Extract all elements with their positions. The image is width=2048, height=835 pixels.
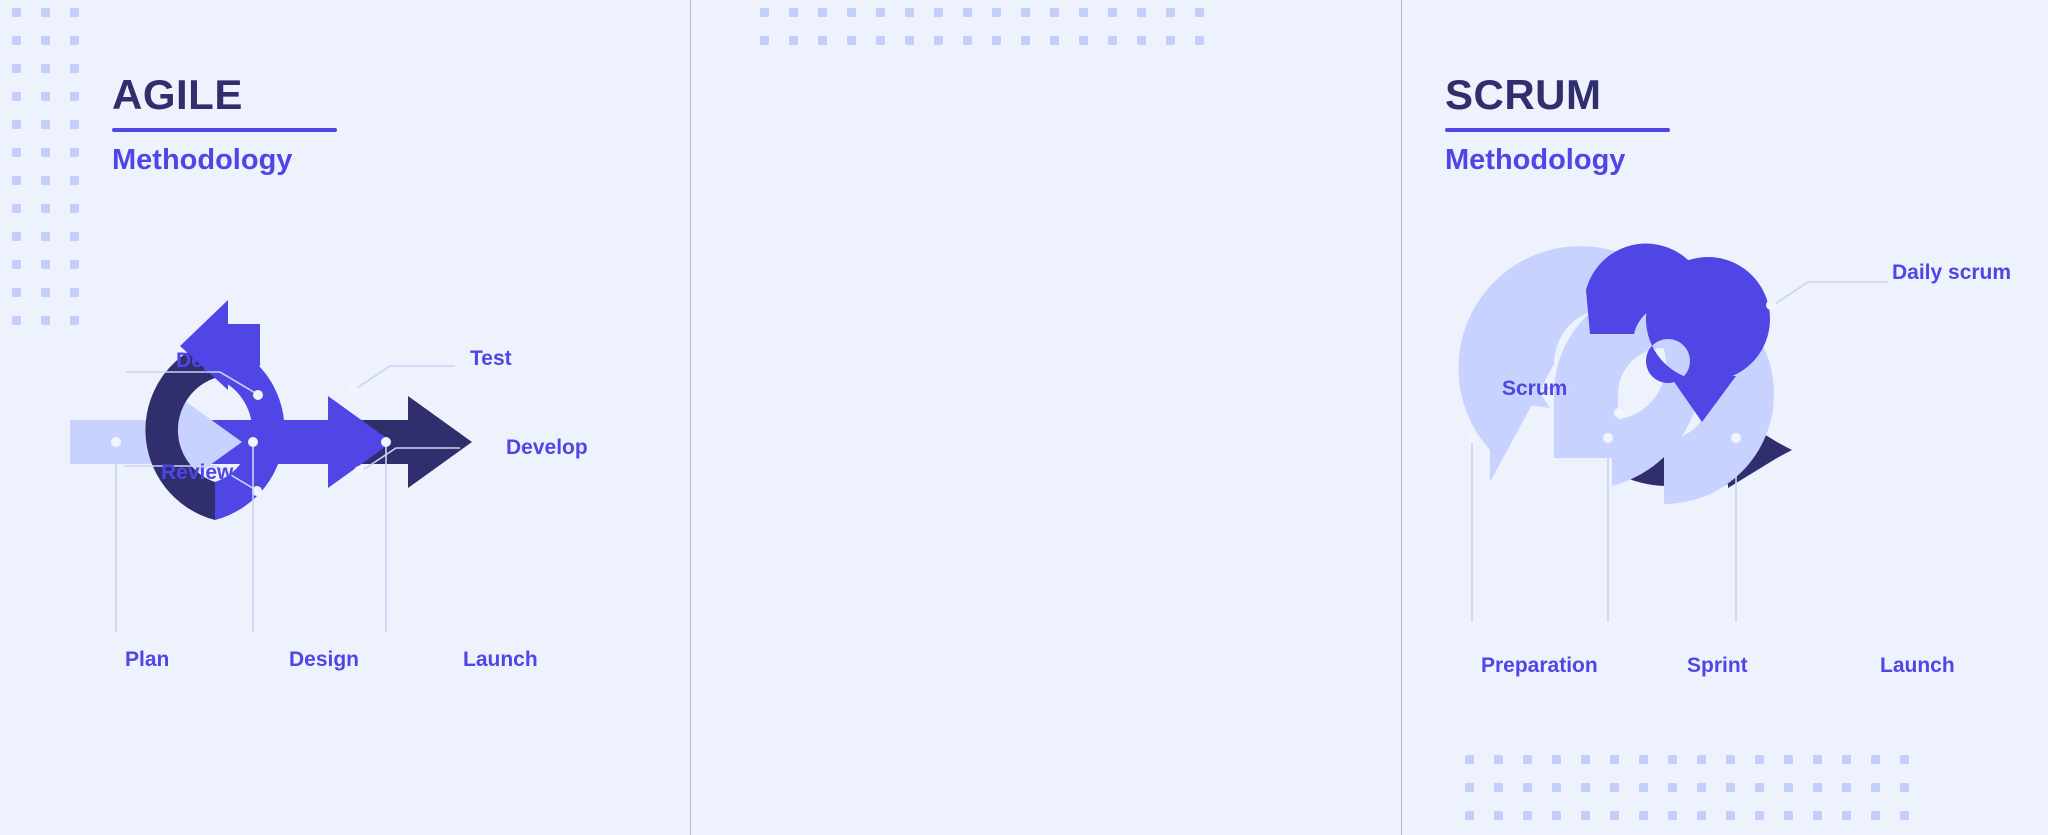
agile-caption-launch: Launch xyxy=(463,649,538,670)
infographic-canvas: AGILE Methodology xyxy=(0,0,2048,835)
panel-waterfall: WATERFALL Methodology Requirement analys… xyxy=(1402,0,2048,835)
agile-caption-design: Design xyxy=(289,649,359,670)
panel-agile: AGILE Methodology xyxy=(0,0,690,835)
heading-agile: AGILE Methodology xyxy=(112,74,337,175)
agile-caption-plan: Plan xyxy=(125,649,169,670)
agile-callout-deploy: Deploy xyxy=(176,350,246,371)
agile-diagram xyxy=(60,250,520,650)
agile-callout-develop: Develop xyxy=(506,437,588,458)
page-title-agile: AGILE xyxy=(112,74,337,116)
subtitle-agile: Methodology xyxy=(112,146,337,175)
agile-cycle-ring xyxy=(145,300,284,520)
agile-callout-review: Review xyxy=(161,462,233,483)
title-underline-agile xyxy=(112,128,337,132)
agile-callout-test: Test xyxy=(470,348,512,369)
panel-scrum: SCRUM Methodology xyxy=(690,0,1402,835)
